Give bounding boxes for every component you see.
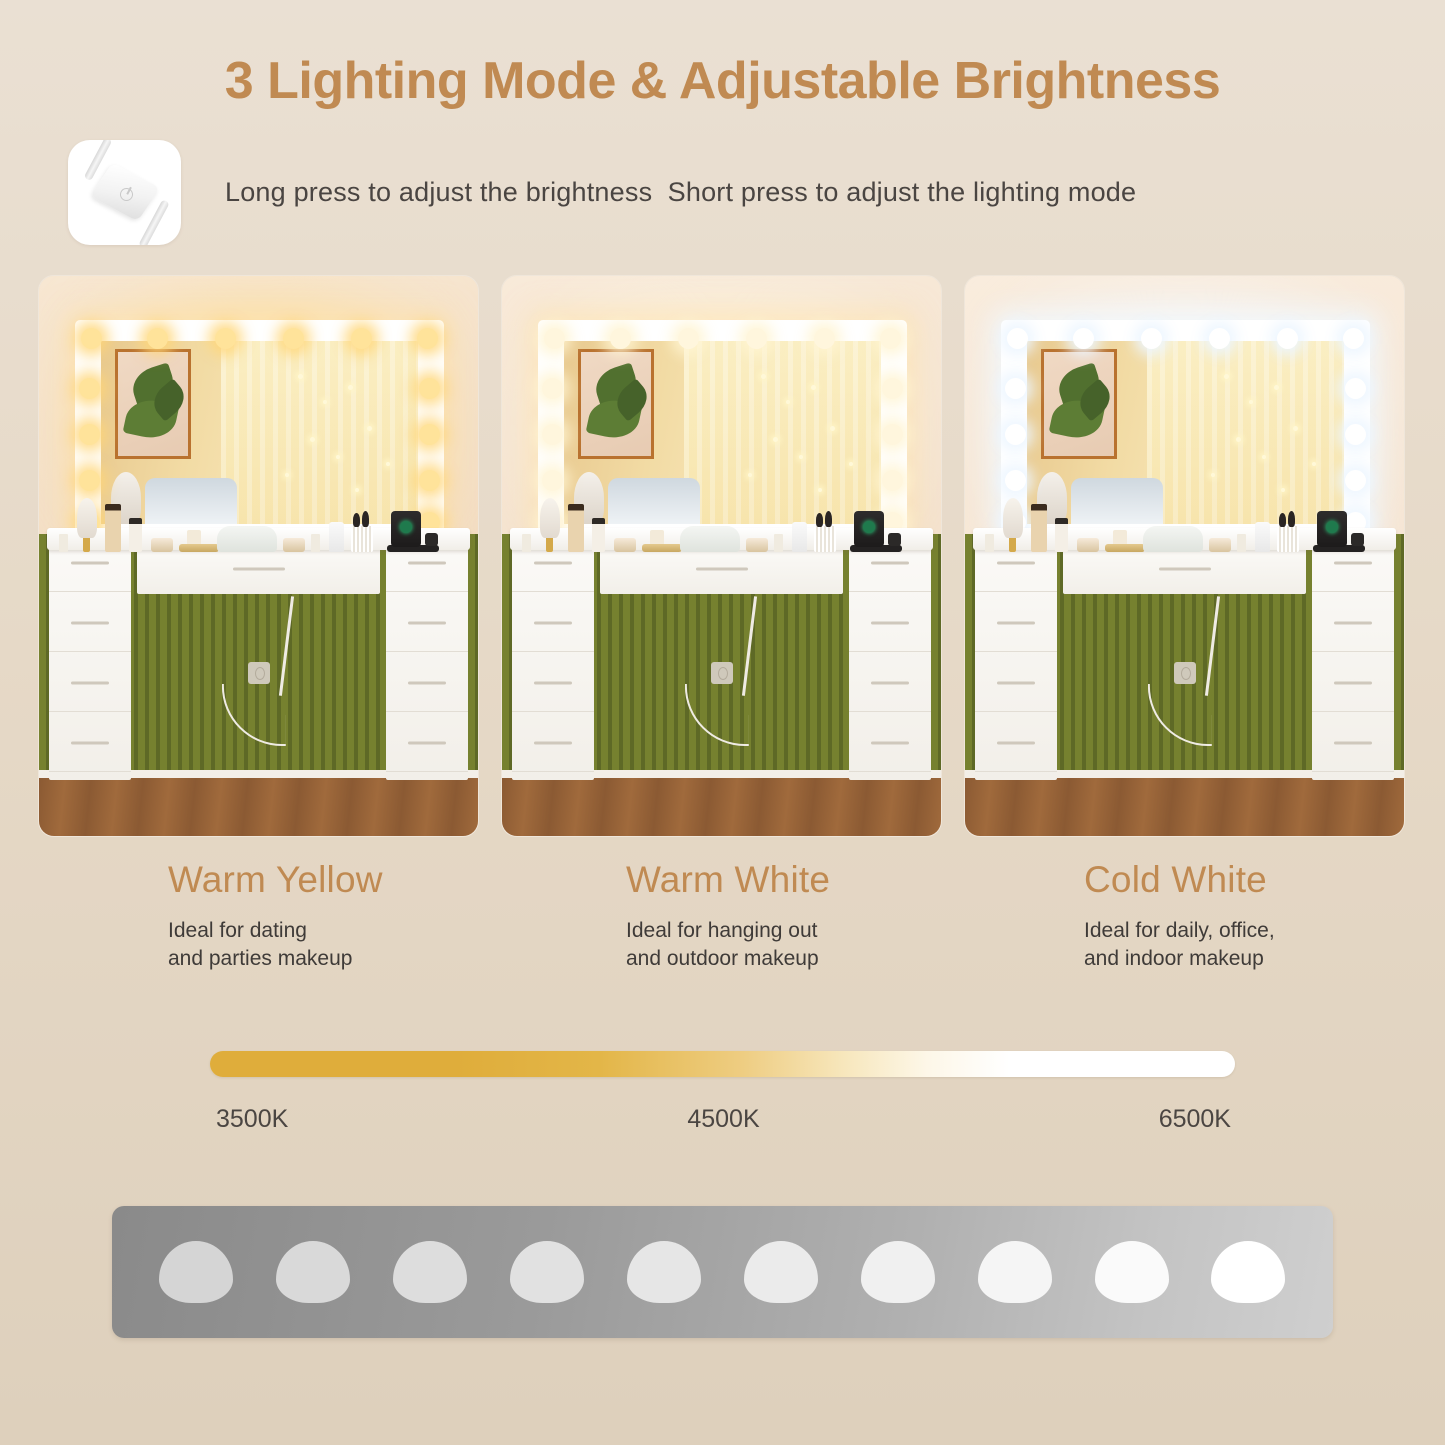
mode-description: Ideal for dating and parties makeup bbox=[168, 917, 479, 973]
reflected-wall-art bbox=[1041, 349, 1117, 459]
brightness-step-6[interactable] bbox=[861, 1241, 935, 1303]
wall-outlet bbox=[248, 662, 270, 684]
inline-dimmer-switch-icon bbox=[68, 140, 181, 245]
wall-outlet bbox=[711, 662, 733, 684]
right-drawer-cabinet[interactable] bbox=[849, 534, 931, 780]
temp-label-mid: 4500K bbox=[687, 1105, 759, 1134]
caption-1: Warm White Ideal for hanging out and out… bbox=[501, 859, 942, 973]
page-title: 3 Lighting Mode & Adjustable Brightness bbox=[0, 0, 1445, 112]
wood-floor bbox=[502, 778, 941, 836]
brightness-step-1[interactable] bbox=[276, 1241, 350, 1303]
brightness-step-7[interactable] bbox=[978, 1241, 1052, 1303]
lighting-mode-card-2: Cold White Ideal for daily, office, and … bbox=[964, 275, 1405, 973]
mode-title: Warm Yellow bbox=[168, 859, 479, 901]
mode-description: Ideal for daily, office, and indoor make… bbox=[1084, 917, 1405, 973]
mode-title: Warm White bbox=[626, 859, 942, 901]
temperature-tick-labels: 3500K 4500K 6500K bbox=[210, 1105, 1235, 1134]
vanity-photo-warm-yellow bbox=[38, 275, 479, 837]
mode-description: Ideal for hanging out and outdoor makeup bbox=[626, 917, 942, 973]
temperature-gradient-bar[interactable] bbox=[210, 1051, 1235, 1077]
caption-0: Warm Yellow Ideal for dating and parties… bbox=[38, 859, 479, 973]
temp-label-max: 6500K bbox=[1159, 1105, 1231, 1134]
vanity-desk bbox=[965, 534, 1404, 836]
brightness-scale bbox=[0, 1206, 1445, 1338]
countertop-items bbox=[502, 496, 941, 552]
wood-floor bbox=[965, 778, 1404, 836]
caption-2: Cold White Ideal for daily, office, and … bbox=[964, 859, 1405, 973]
brightness-step-3[interactable] bbox=[510, 1241, 584, 1303]
mode-title: Cold White bbox=[1084, 859, 1405, 901]
left-drawer-cabinet[interactable] bbox=[975, 534, 1057, 780]
lighting-mode-card-1: Warm White Ideal for hanging out and out… bbox=[501, 275, 942, 973]
vanity-photo-cold-white bbox=[964, 275, 1405, 837]
left-drawer-cabinet[interactable] bbox=[49, 534, 131, 780]
temp-label-min: 3500K bbox=[216, 1105, 288, 1134]
brightness-step-4[interactable] bbox=[627, 1241, 701, 1303]
reflected-wall-art bbox=[578, 349, 654, 459]
right-drawer-cabinet[interactable] bbox=[386, 534, 468, 780]
brightness-step-0[interactable] bbox=[159, 1241, 233, 1303]
lighting-mode-card-0: Warm Yellow Ideal for dating and parties… bbox=[38, 275, 479, 973]
brightness-step-2[interactable] bbox=[393, 1241, 467, 1303]
countertop-items bbox=[39, 496, 478, 552]
vanity-desk bbox=[502, 534, 941, 836]
right-drawer-cabinet[interactable] bbox=[1312, 534, 1394, 780]
subtitle-text: Long press to adjust the brightness Shor… bbox=[225, 177, 1136, 208]
wall-outlet bbox=[1174, 662, 1196, 684]
vanity-desk bbox=[39, 534, 478, 836]
brightness-step-panel[interactable] bbox=[112, 1206, 1333, 1338]
countertop-items bbox=[965, 496, 1404, 552]
brightness-step-5[interactable] bbox=[744, 1241, 818, 1303]
brightness-step-9[interactable] bbox=[1211, 1241, 1285, 1303]
lighting-mode-panels: Warm Yellow Ideal for dating and parties… bbox=[0, 275, 1445, 973]
color-temperature-scale: 3500K 4500K 6500K bbox=[0, 1051, 1445, 1134]
vanity-photo-warm-white bbox=[501, 275, 942, 837]
reflected-wall-art bbox=[115, 349, 191, 459]
brightness-step-8[interactable] bbox=[1095, 1241, 1169, 1303]
wood-floor bbox=[39, 778, 478, 836]
left-drawer-cabinet[interactable] bbox=[512, 534, 594, 780]
subtitle-row: Long press to adjust the brightness Shor… bbox=[0, 140, 1445, 245]
